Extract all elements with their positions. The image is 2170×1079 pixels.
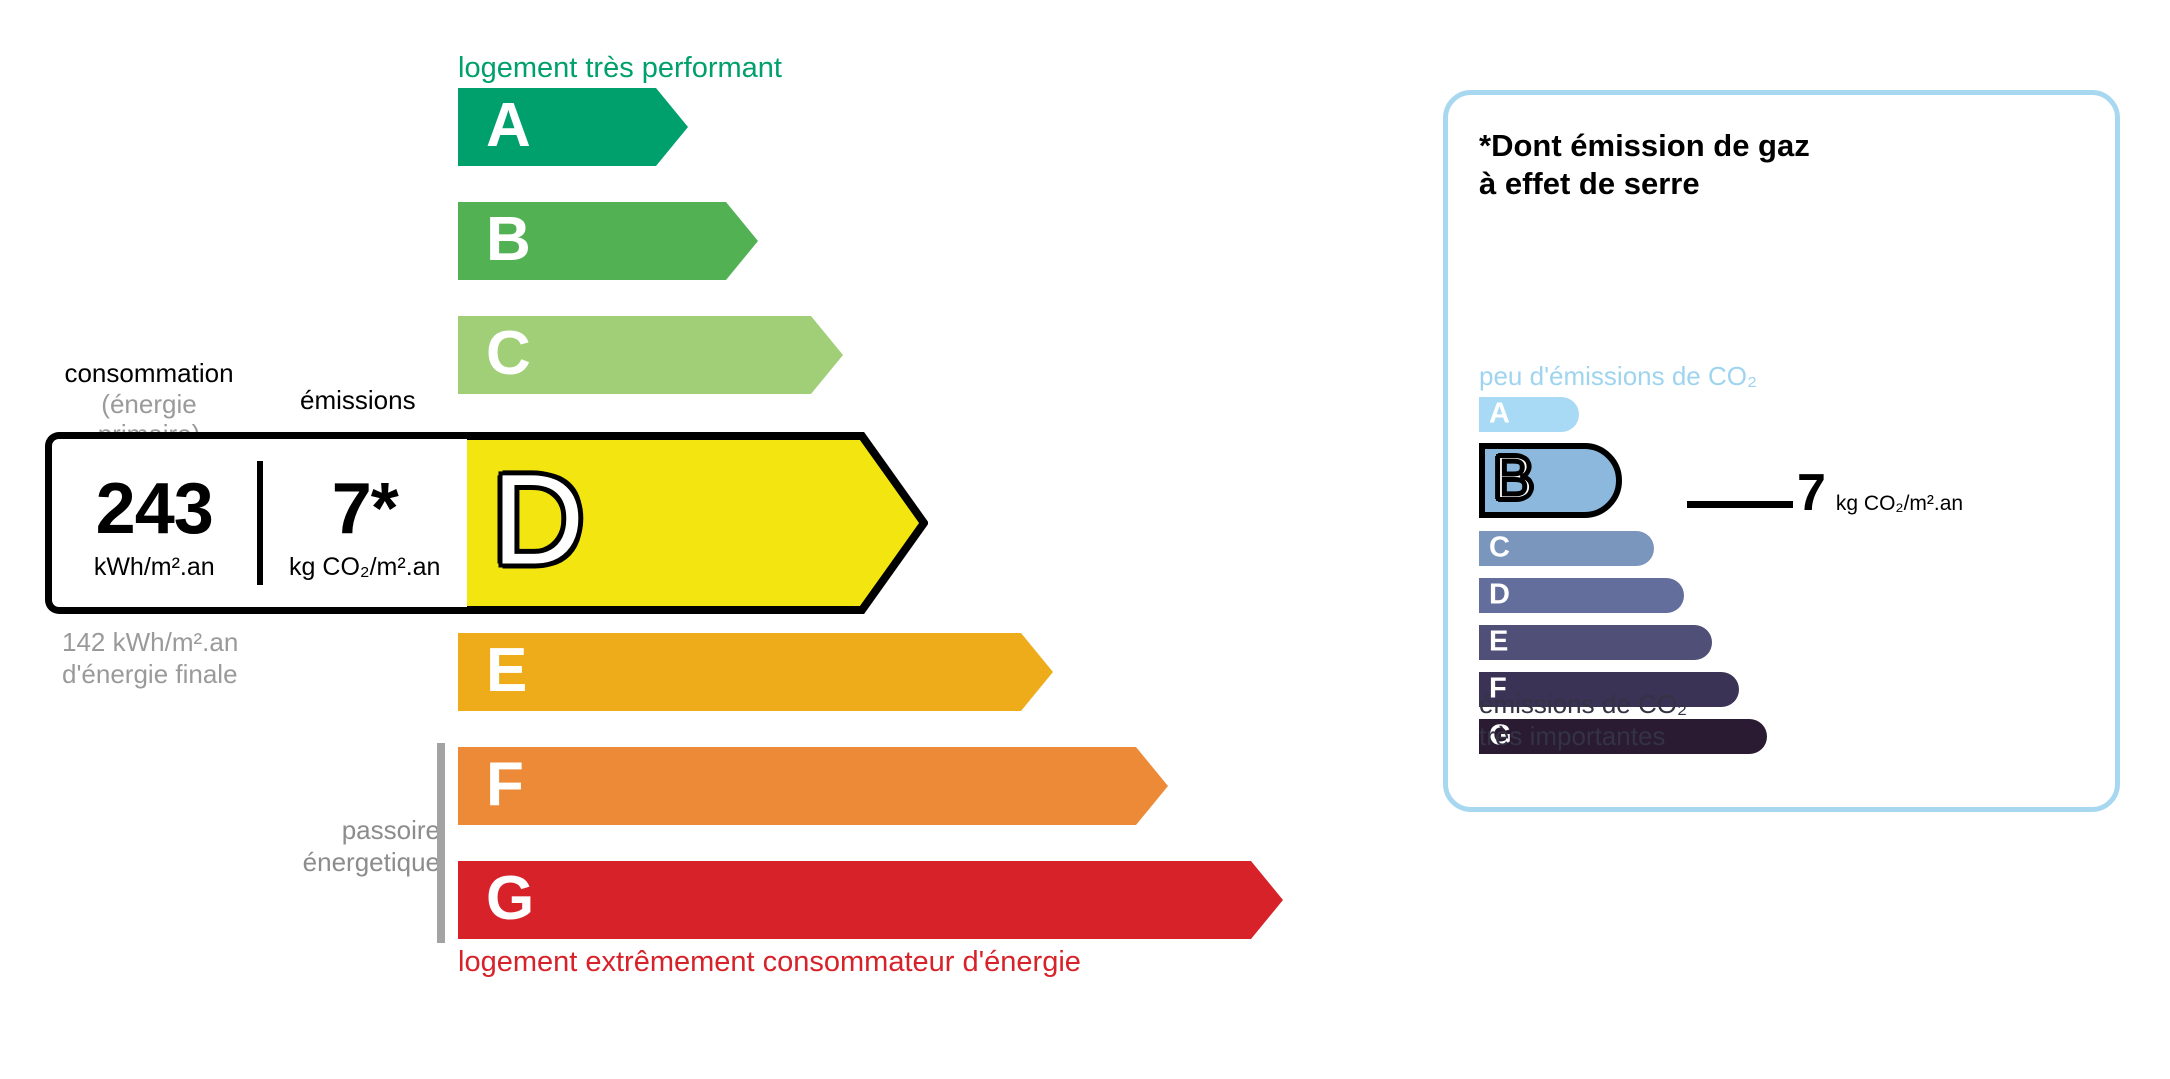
arrow-shape-a xyxy=(458,88,688,166)
co2-bottom-caption: émissions de CO₂ très importantes xyxy=(1479,689,1687,752)
arrow-shape-b xyxy=(458,202,758,280)
co2-emissions-panel: *Dont émission de gaz à effet de serre p… xyxy=(1443,90,2120,812)
energy-bar-g: G xyxy=(458,861,1283,939)
co2-value-unit: kg CO₂/m².an xyxy=(1836,492,1963,516)
energy-bar-d-selected: D xyxy=(458,432,928,614)
primary-energy-cell: 243 kWh/m².an xyxy=(52,439,257,607)
passoire-bracket-line xyxy=(437,743,445,943)
energy-top-caption: logement très performant xyxy=(458,52,782,85)
energy-bottom-caption: logement extrêmement consommateur d'éner… xyxy=(458,946,1081,979)
co2-bar-d: D xyxy=(1479,578,1684,613)
energy-bar-f: F xyxy=(458,747,1168,825)
energy-bar-c: C xyxy=(458,316,843,394)
co2-bar-b-selected: B xyxy=(1479,443,1622,518)
passoire-line1: passoire xyxy=(250,815,440,847)
passoire-energetique-label: passoire énergetique xyxy=(250,815,440,878)
arrow-shape-d xyxy=(458,432,928,614)
primary-energy-unit: kWh/m².an xyxy=(94,553,215,582)
co2-bottom-line1: émissions de CO₂ xyxy=(1479,689,1687,721)
arrow-shape-c xyxy=(458,316,843,394)
co2-bar-e: E xyxy=(1479,625,1712,660)
co2-value-callout: 7 kg CO₂/m².an xyxy=(1797,467,1963,519)
energy-consumption-panel: logement très performant A B C xyxy=(0,0,1400,1079)
co2-shape-d xyxy=(1479,578,1684,613)
co2-shape-e xyxy=(1479,625,1712,660)
arrow-shape-f xyxy=(458,747,1168,825)
co2-shape-b xyxy=(1479,443,1622,518)
co2-panel-title: *Dont émission de gaz à effet de serre xyxy=(1479,127,1810,203)
co2-bar-c: C xyxy=(1479,531,1654,566)
value-callout-box: 243 kWh/m².an 7* kg CO₂/m².an xyxy=(45,432,467,614)
co2-shape-c xyxy=(1479,531,1654,566)
emission-value: 7* xyxy=(332,473,398,545)
primary-energy-value: 243 xyxy=(96,473,213,545)
arrow-shape-e xyxy=(458,633,1053,711)
energy-bar-b: B xyxy=(458,202,758,280)
final-energy-note: 142 kWh/m².an d'énergie finale xyxy=(62,627,238,690)
emission-unit: kg CO₂/m².an xyxy=(289,553,440,582)
co2-title-line2: à effet de serre xyxy=(1479,165,1810,203)
emission-cell: 7* kg CO₂/m².an xyxy=(263,439,468,607)
label-consommation-main: consommation xyxy=(49,358,249,389)
dpe-energy-label: logement très performant A B C xyxy=(0,0,2170,1079)
final-energy-line1: 142 kWh/m².an xyxy=(62,627,238,659)
co2-leader-line xyxy=(1687,501,1793,508)
co2-value-number: 7 xyxy=(1797,467,1826,519)
energy-bar-e: E xyxy=(458,633,1053,711)
final-energy-line2: d'énergie finale xyxy=(62,659,238,691)
energy-bar-a: A xyxy=(458,88,688,166)
co2-shape-a xyxy=(1479,397,1579,432)
co2-bottom-line2: très importantes xyxy=(1479,721,1687,753)
label-emissions: émissions xyxy=(300,385,416,416)
co2-bar-a: A xyxy=(1479,397,1579,432)
co2-title-line1: *Dont émission de gaz xyxy=(1479,127,1810,165)
passoire-line2: énergetique xyxy=(250,847,440,879)
arrow-shape-g xyxy=(458,861,1283,939)
co2-top-caption: peu d'émissions de CO₂ xyxy=(1479,361,1757,392)
